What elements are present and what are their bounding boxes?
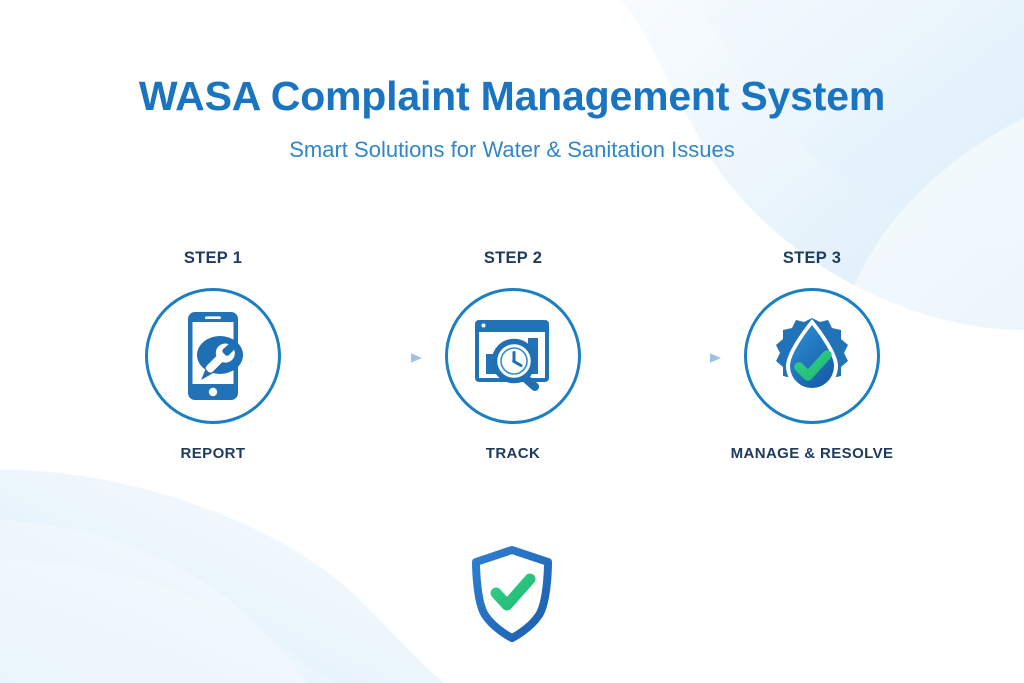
step-label: STEP 3 <box>702 250 922 267</box>
dashboard-magnifier-clock-icon <box>467 310 559 402</box>
step-card-1[interactable]: STEP 1 <box>103 250 323 461</box>
page-subtitle: Smart Solutions for Water & Sanitation I… <box>0 137 1024 163</box>
infographic-canvas: WASA Complaint Management System Smart S… <box>0 0 1024 683</box>
steps-row: STEP 1 <box>0 250 1024 500</box>
step-icon-circle[interactable] <box>145 288 281 424</box>
mobile-report-wrench-icon <box>170 308 256 404</box>
step-caption: TRACK <box>403 446 623 461</box>
gear-waterdrop-check-icon <box>764 308 860 404</box>
step-icon-circle[interactable] <box>445 288 581 424</box>
step-caption: MANAGE & RESOLVE <box>702 446 922 461</box>
step-label: STEP 2 <box>403 250 623 267</box>
step-caption: REPORT <box>103 446 323 461</box>
step-card-3[interactable]: STEP 3 <box>702 250 922 461</box>
footer-badge <box>0 545 1024 648</box>
step-label: STEP 1 <box>103 250 323 267</box>
page-title: WASA Complaint Management System <box>0 74 1024 119</box>
step-icon-circle[interactable] <box>744 288 880 424</box>
shield-check-icon <box>467 545 557 643</box>
step-card-2[interactable]: STEP 2 <box>403 250 623 461</box>
header: WASA Complaint Management System Smart S… <box>0 74 1024 163</box>
